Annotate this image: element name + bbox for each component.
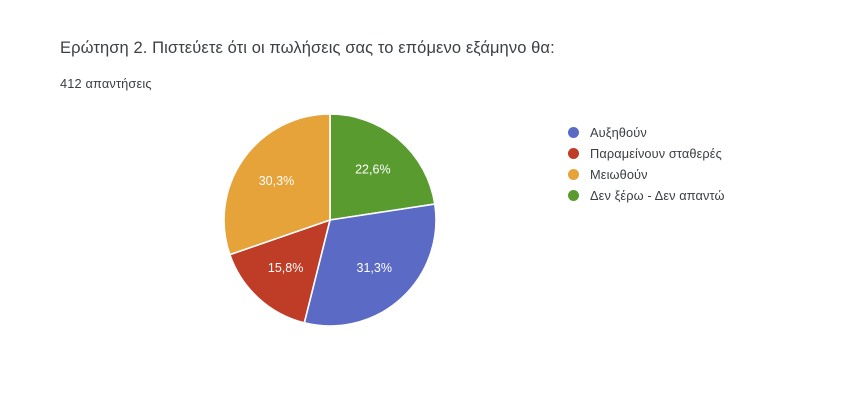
legend-item[interactable]: Μειωθούν bbox=[568, 164, 808, 185]
legend-item-label: Παραμείνουν σταθερές bbox=[590, 147, 722, 161]
legend-item-label: Μειωθούν bbox=[590, 168, 648, 182]
pie-chart: 22,6%31,3%15,8%30,3% ΑυξηθούνΠαραμείνουν… bbox=[0, 0, 847, 408]
legend-color-swatch-icon bbox=[568, 190, 579, 201]
legend-item-label: Αυξηθούν bbox=[590, 126, 647, 140]
pie-slice-group bbox=[224, 114, 436, 326]
pie-slice-label: 30,3% bbox=[259, 174, 294, 188]
legend-item-label: Δεν ξέρω - Δεν απαντώ bbox=[590, 189, 725, 203]
pie-slice-label: 15,8% bbox=[268, 261, 303, 275]
legend-color-swatch-icon bbox=[568, 127, 579, 138]
pie-slice-label: 31,3% bbox=[357, 261, 392, 275]
pie-chart-svg: 22,6%31,3%15,8%30,3% bbox=[222, 112, 438, 328]
pie-slice-label: 22,6% bbox=[355, 162, 390, 176]
question-result-card: Ερώτηση 2. Πιστεύετε ότι οι πωλήσεις σας… bbox=[0, 0, 847, 408]
chart-legend: ΑυξηθούνΠαραμείνουν σταθερέςΜειωθούνΔεν … bbox=[568, 122, 808, 206]
legend-item[interactable]: Αυξηθούν bbox=[568, 122, 808, 143]
legend-color-swatch-icon bbox=[568, 148, 579, 159]
legend-item[interactable]: Δεν ξέρω - Δεν απαντώ bbox=[568, 185, 808, 206]
legend-item[interactable]: Παραμείνουν σταθερές bbox=[568, 143, 808, 164]
legend-color-swatch-icon bbox=[568, 169, 579, 180]
